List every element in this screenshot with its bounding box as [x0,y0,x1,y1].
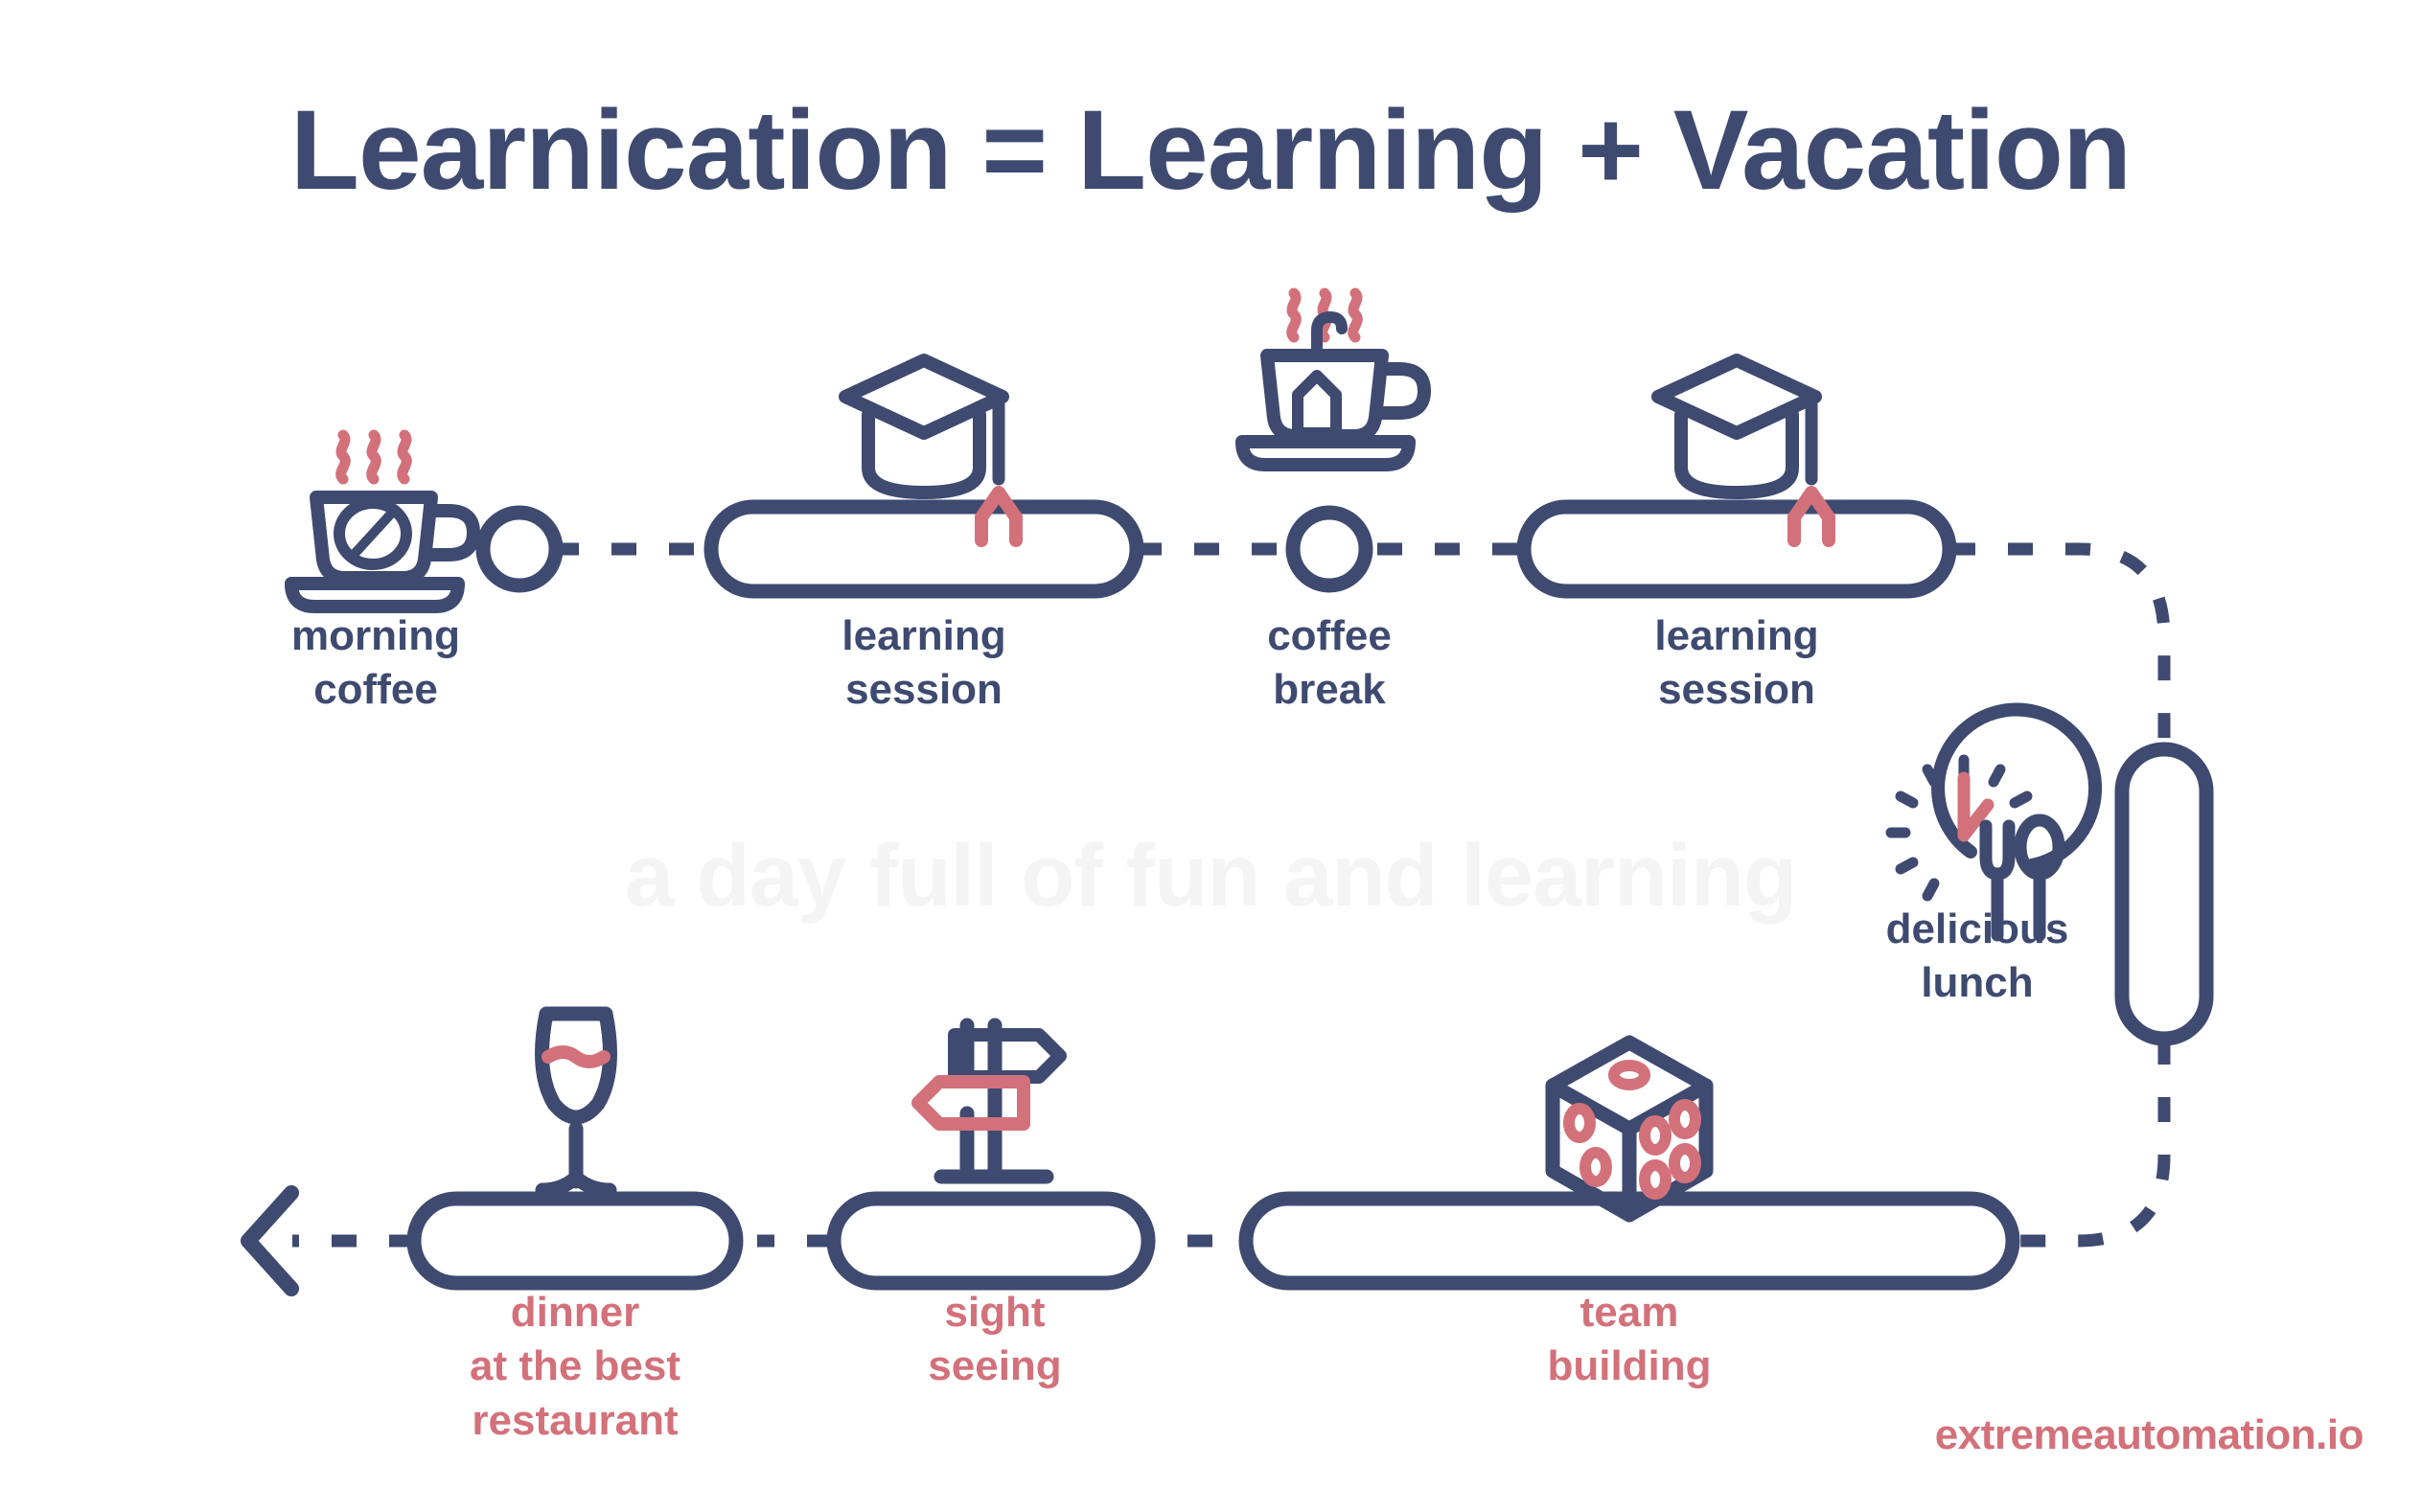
label-sight-seeing: sight seeing [851,1286,1139,1394]
infographic-canvas: a day full of fun and learning Learnicat… [0,0,2421,1512]
site-url[interactable]: extremeautomation.io [1935,1411,2363,1459]
node-circle-morning-coffee[interactable] [483,513,556,585]
node-pill-learning-session-2[interactable] [1524,507,1949,591]
node-pill-delicious-lunch[interactable] [2122,749,2206,1039]
label-dinner: dinner at the best restaurant [431,1286,719,1448]
node-pill-dinner[interactable] [414,1199,736,1283]
tea-cup-icon [1242,293,1424,465]
label-morning-coffee: morning coffee [232,609,519,718]
dice-icon [1553,1042,1706,1215]
left-chevron-arrow-icon [248,1193,291,1289]
wine-glass-icon [542,1014,611,1190]
label-delicious-lunch: delicious lunch [1833,903,2121,1011]
coffee-cup-icon [291,435,473,607]
label-coffee-break: coffee break [1186,609,1473,718]
signpost-icon [918,1025,1060,1177]
clock-cutlery-icon [1891,710,2095,935]
node-circle-coffee-break[interactable] [1293,513,1366,585]
node-pill-sight-seeing[interactable] [834,1199,1148,1283]
timeline-diagram: .stroke-navy { stroke:#3e4a70; fill:none… [0,0,2421,1512]
label-learning-session-1: learning session [780,609,1068,718]
node-pill-learning-session-1[interactable] [711,507,1137,591]
label-learning-session-2: learning session [1593,609,1880,718]
connector-lunch-to-team [2013,1040,2164,1241]
label-team-building: team building [1486,1286,1773,1394]
